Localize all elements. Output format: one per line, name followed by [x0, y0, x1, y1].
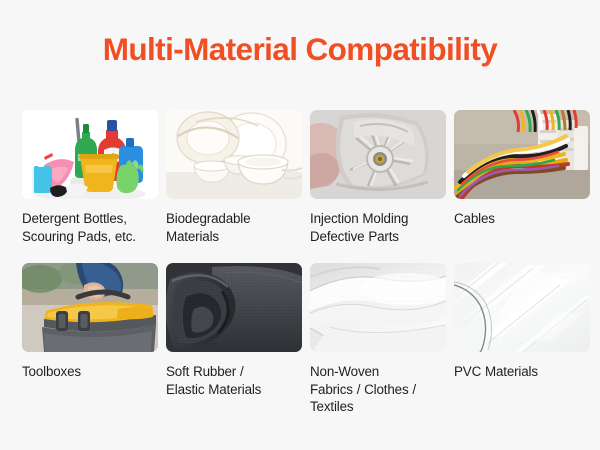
caption-line: Defective Parts	[310, 228, 446, 246]
caption-line: Biodegradable	[166, 210, 302, 228]
detergent-bottles-scouring-pads-photo	[22, 110, 158, 199]
material-card[interactable]: PVC Materials	[454, 263, 590, 416]
material-card[interactable]: Injection Molding Defective Parts	[310, 110, 446, 245]
caption-line: Cables	[454, 210, 590, 228]
material-card[interactable]: Detergent Bottles, Scouring Pads, etc.	[22, 110, 158, 245]
caption-line: Detergent Bottles,	[22, 210, 158, 228]
injection-molded-part-photo	[310, 110, 446, 199]
card-caption: Cables	[454, 210, 590, 228]
caption-line: Textiles	[310, 398, 446, 416]
caption-line: Elastic Materials	[166, 381, 302, 399]
material-card[interactable]: Soft Rubber / Elastic Materials	[166, 263, 302, 416]
card-caption: Soft Rubber / Elastic Materials	[166, 363, 302, 398]
card-caption: Non-Woven Fabrics / Clothes / Textiles	[310, 363, 446, 416]
non-woven-white-fabric-photo	[310, 263, 446, 352]
page-title: Multi-Material Compatibility	[0, 30, 600, 69]
material-card[interactable]: Toolboxes	[22, 263, 158, 416]
caption-line: Materials	[166, 228, 302, 246]
caption-line: Fabrics / Clothes /	[310, 381, 446, 399]
caption-line: Scouring Pads, etc.	[22, 228, 158, 246]
caption-line: Toolboxes	[22, 363, 158, 381]
card-caption: PVC Materials	[454, 363, 590, 381]
card-row-1: Detergent Bottles, Scouring Pads, etc.	[22, 110, 578, 245]
card-caption: Detergent Bottles, Scouring Pads, etc.	[22, 210, 158, 245]
infographic-page: Multi-Material Compatibility	[0, 0, 600, 450]
caption-line: PVC Materials	[454, 363, 590, 381]
card-row-2: Toolboxes	[22, 263, 578, 416]
card-caption: Biodegradable Materials	[166, 210, 302, 245]
rolled-rubber-mat-photo	[166, 263, 302, 352]
material-card[interactable]: Biodegradable Materials	[166, 110, 302, 245]
caption-line: Non-Woven	[310, 363, 446, 381]
colored-cables-photo	[454, 110, 590, 199]
material-card-grid: Detergent Bottles, Scouring Pads, etc.	[22, 110, 578, 416]
yellow-gray-toolbox-photo	[22, 263, 158, 352]
material-card[interactable]: Cables	[454, 110, 590, 245]
biodegradable-tableware-photo	[166, 110, 302, 199]
caption-line: Soft Rubber /	[166, 363, 302, 381]
card-caption: Injection Molding Defective Parts	[310, 210, 446, 245]
card-caption: Toolboxes	[22, 363, 158, 381]
material-card[interactable]: Non-Woven Fabrics / Clothes / Textiles	[310, 263, 446, 416]
transparent-pvc-sheet-photo	[454, 263, 590, 352]
caption-line: Injection Molding	[310, 210, 446, 228]
